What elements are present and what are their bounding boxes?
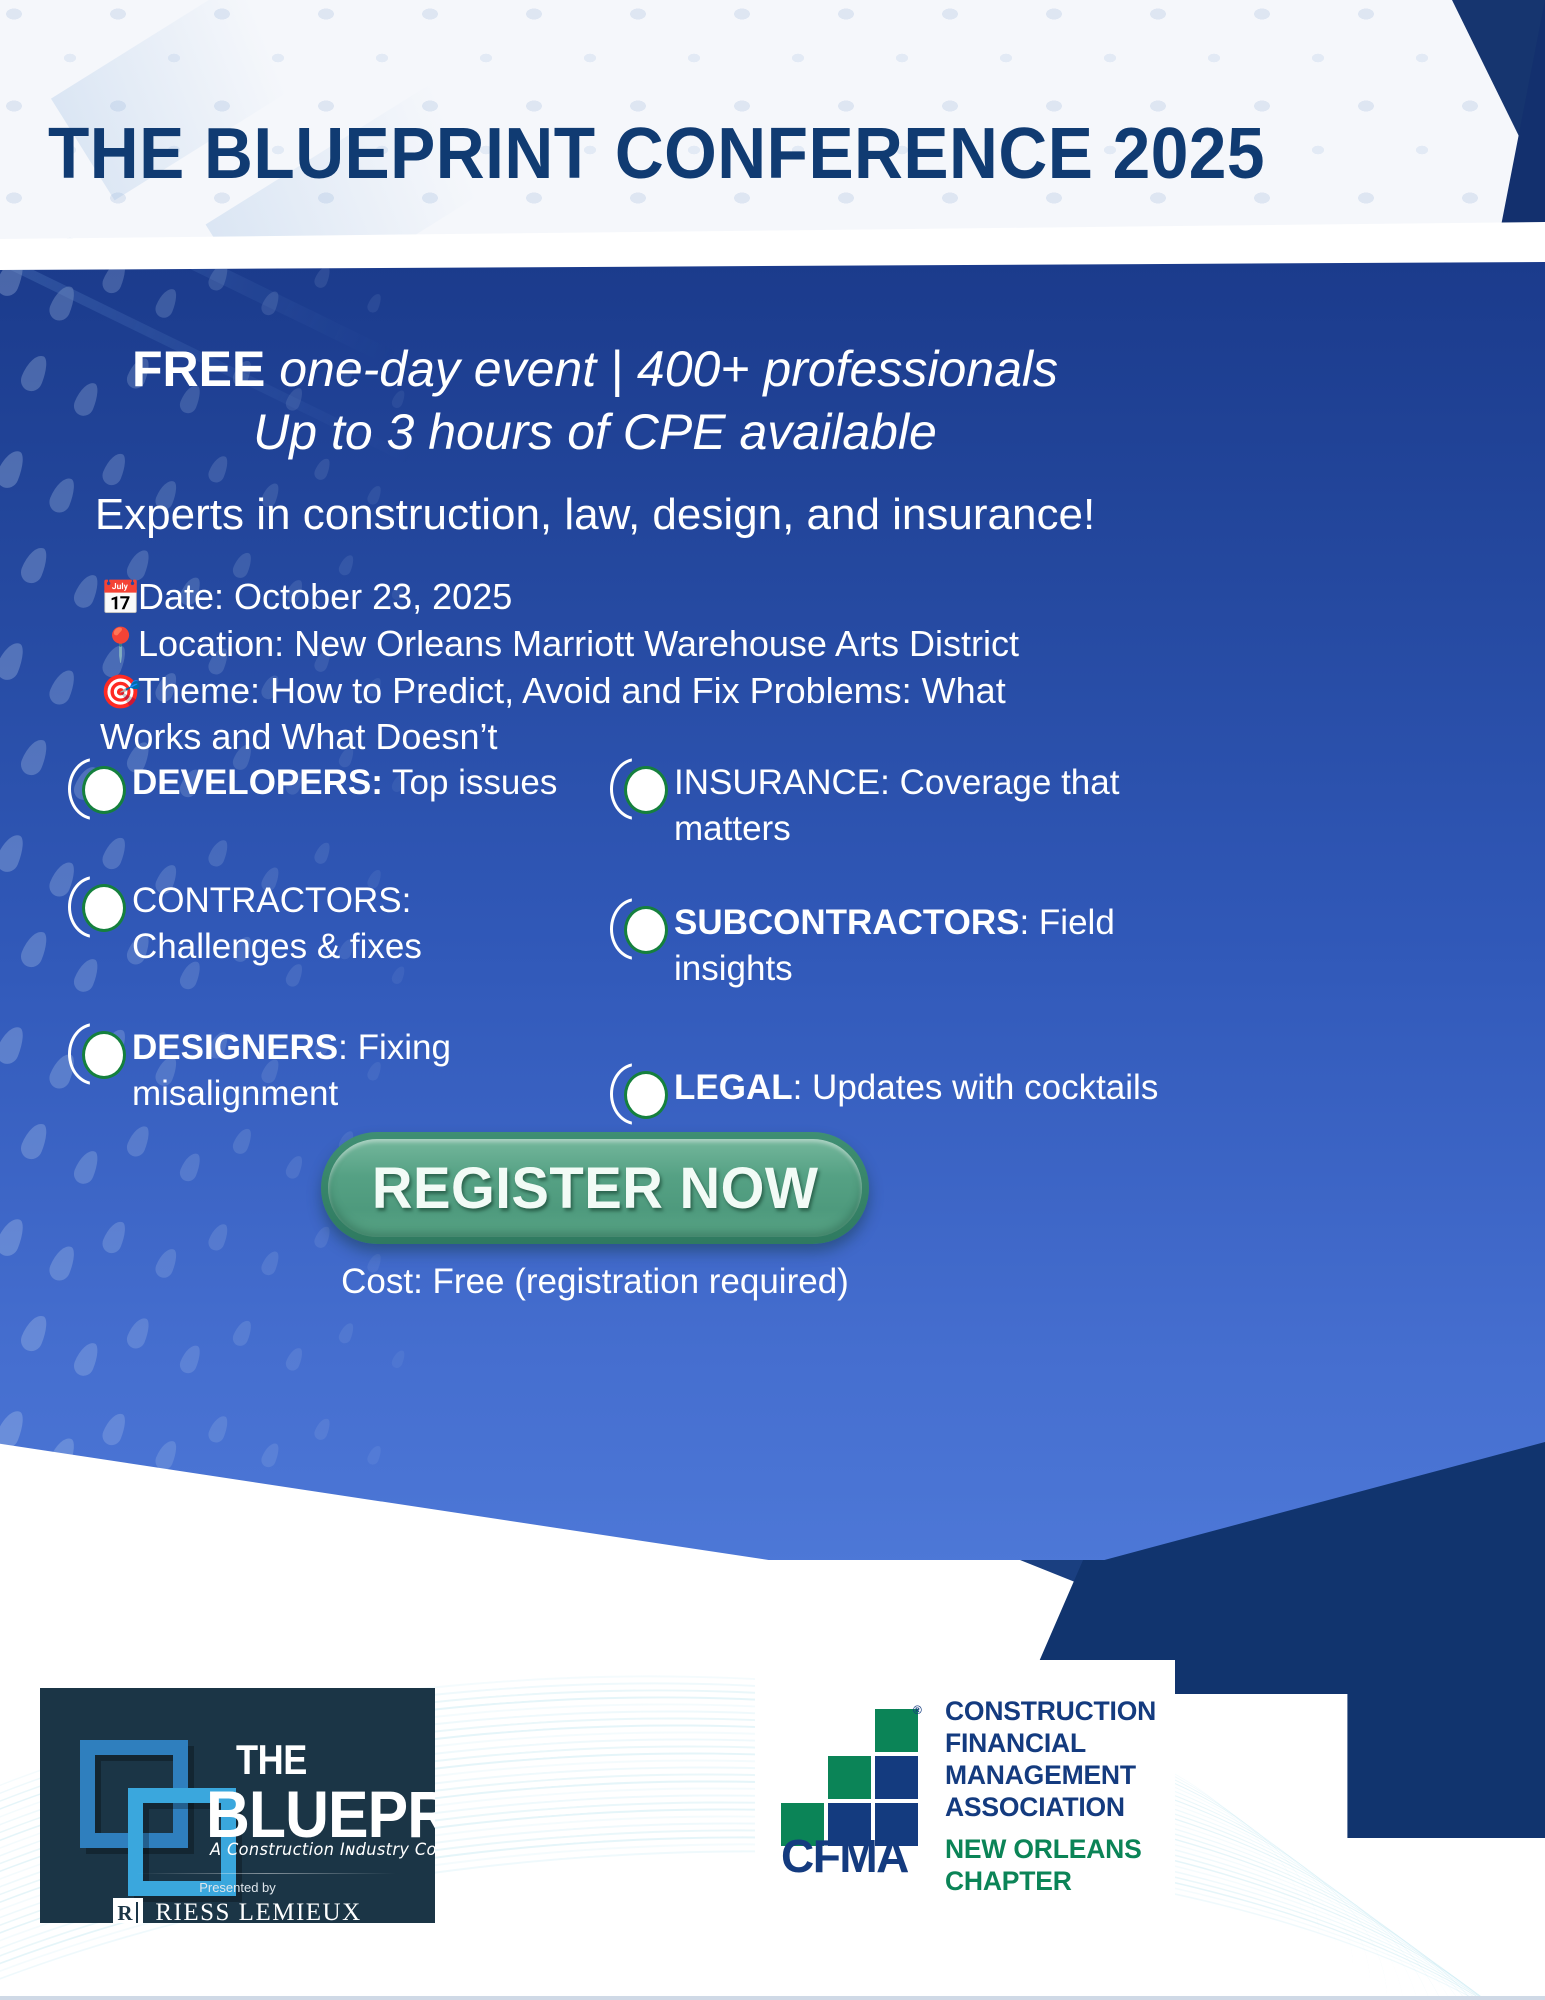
flyer-root: THE BLUEPRINT CONFERENCE 2025 FREE one-d… xyxy=(0,0,1545,2000)
cfma-chapter-line-1: NEW ORLEANS xyxy=(945,1833,1156,1865)
target-icon: 🎯 xyxy=(100,671,138,714)
list-item-label: LEGAL: Updates with cocktails xyxy=(672,1065,1158,1111)
circle-bullet-icon xyxy=(610,902,672,958)
footer-band: THE BLUEPRINT A Cᴏnstruction Iɴdustry Cᴏ… xyxy=(0,1560,1545,2000)
list-item-rest: CONTRACTORS: Challenges & fixes xyxy=(132,881,422,966)
list-item-strong: SUBCONTRACTORS xyxy=(674,903,1019,942)
list-item: DESIGNERS: Fixing misalignment xyxy=(68,1025,588,1116)
list-item-rest: Top issues xyxy=(383,763,557,802)
header-band: THE BLUEPRINT CONFERENCE 2025 xyxy=(0,0,1545,272)
lead-line-2: Up to 3 hours of CPE available xyxy=(0,403,1190,462)
event-detail-theme: 🎯Theme: How to Predict, Avoid and Fix Pr… xyxy=(100,668,1110,762)
map-pin-icon: 📍 xyxy=(100,624,138,667)
cfma-name-block: CONSTRUCTION FINANCIAL MANAGEMENT ASSOCI… xyxy=(945,1695,1156,1897)
register-now-button[interactable]: REGISTER NOW xyxy=(321,1132,869,1244)
lead-line-1: FREE one-day event | 400+ professionals xyxy=(0,340,1190,399)
riess-lemieux-lockup: R RIESS LEMIEUX xyxy=(40,1898,435,1923)
page-title: THE BLUEPRINT CONFERENCE 2025 xyxy=(48,118,1265,190)
list-item-label: SUBCONTRACTORS: Field insights xyxy=(672,900,1170,991)
lead-line-1-rest: one-day event | 400+ professionals xyxy=(265,341,1058,397)
cfma-line-3: MANAGEMENT xyxy=(945,1759,1156,1791)
circle-bullet-icon xyxy=(68,762,130,818)
blueprint-logo-tagline: A Cᴏnstruction Iɴdustry Cᴏnference xyxy=(210,1840,435,1860)
main-blue-panel: FREE one-day event | 400+ professionals … xyxy=(0,262,1545,1592)
event-detail-theme-text: Theme: How to Predict, Avoid and Fix Pro… xyxy=(100,670,1006,758)
cfma-logo: ® CFMA CONSTRUCTION FINANCIAL MANAGEMENT… xyxy=(755,1660,1175,1932)
circle-bullet-icon xyxy=(610,1067,672,1123)
registered-trademark-icon: ® xyxy=(913,1703,922,1717)
cfma-squares-icon: ® CFMA xyxy=(773,1701,931,1891)
list-item-label: DEVELOPERS: Top issues xyxy=(130,760,557,806)
list-item-label: DESIGNERS: Fixing misalignment xyxy=(130,1025,588,1116)
footer-hairline xyxy=(0,1996,1545,2000)
event-detail-location: 📍Location: New Orleans Marriott Warehous… xyxy=(100,621,1110,668)
list-item-label: CONTRACTORS: Challenges & fixes xyxy=(130,878,588,969)
event-detail-date: 📅Date: October 23, 2025 xyxy=(100,574,1110,621)
register-now-label: REGISTER NOW xyxy=(372,1155,819,1222)
circle-bullet-icon xyxy=(610,762,672,818)
lead-line-3: Experts in construction, law, design, an… xyxy=(0,489,1190,540)
rl-monogram-icon: R xyxy=(113,1898,143,1923)
cost-note: Cost: Free (registration required) xyxy=(0,1262,1190,1302)
event-details: 📅Date: October 23, 2025 📍Location: New O… xyxy=(100,574,1110,761)
list-item-strong: DEVELOPERS: xyxy=(132,763,383,802)
cfma-line-2: FINANCIAL xyxy=(945,1727,1156,1759)
blueprint-logo-divider xyxy=(136,1873,396,1874)
cfma-chapter-line-2: CHAPTER xyxy=(945,1865,1156,1897)
riess-lemieux-name: RIESS LEMIEUX xyxy=(155,1899,361,1923)
lead-free-word: FREE xyxy=(132,341,265,397)
cfma-line-4: ASSOCIATION xyxy=(945,1791,1156,1823)
blueprint-logo-presented-by: Presented by xyxy=(40,1880,435,1895)
list-item: LEGAL: Updates with cocktails xyxy=(610,1065,1170,1123)
blueprint-logo: THE BLUEPRINT A Cᴏnstruction Iɴdustry Cᴏ… xyxy=(40,1688,435,1923)
lead-copy: FREE one-day event | 400+ professionals … xyxy=(0,340,1190,540)
cta-area: REGISTER NOW xyxy=(0,1132,1190,1244)
list-item-rest: : Updates with cocktails xyxy=(793,1068,1159,1107)
list-item-strong: LEGAL xyxy=(674,1068,793,1107)
event-detail-location-text: Location: New Orleans Marriott Warehouse… xyxy=(138,623,1019,664)
circle-bullet-icon xyxy=(68,1027,130,1083)
cfma-line-1: CONSTRUCTION xyxy=(945,1695,1156,1727)
calendar-icon: 📅 xyxy=(100,577,138,620)
list-item: DEVELOPERS: Top issues xyxy=(68,760,588,818)
list-item-rest: INSURANCE: Coverage that matters xyxy=(674,763,1119,848)
list-item: INSURANCE: Coverage that matters xyxy=(610,760,1170,851)
list-item-strong: DESIGNERS xyxy=(132,1028,338,1067)
list-item-label: INSURANCE: Coverage that matters xyxy=(672,760,1170,851)
cfma-acronym: CFMA xyxy=(781,1829,908,1883)
event-detail-date-text: Date: October 23, 2025 xyxy=(138,576,512,617)
circle-bullet-icon xyxy=(68,880,130,936)
list-item: CONTRACTORS: Challenges & fixes xyxy=(68,878,588,969)
list-item: SUBCONTRACTORS: Field insights xyxy=(610,900,1170,991)
